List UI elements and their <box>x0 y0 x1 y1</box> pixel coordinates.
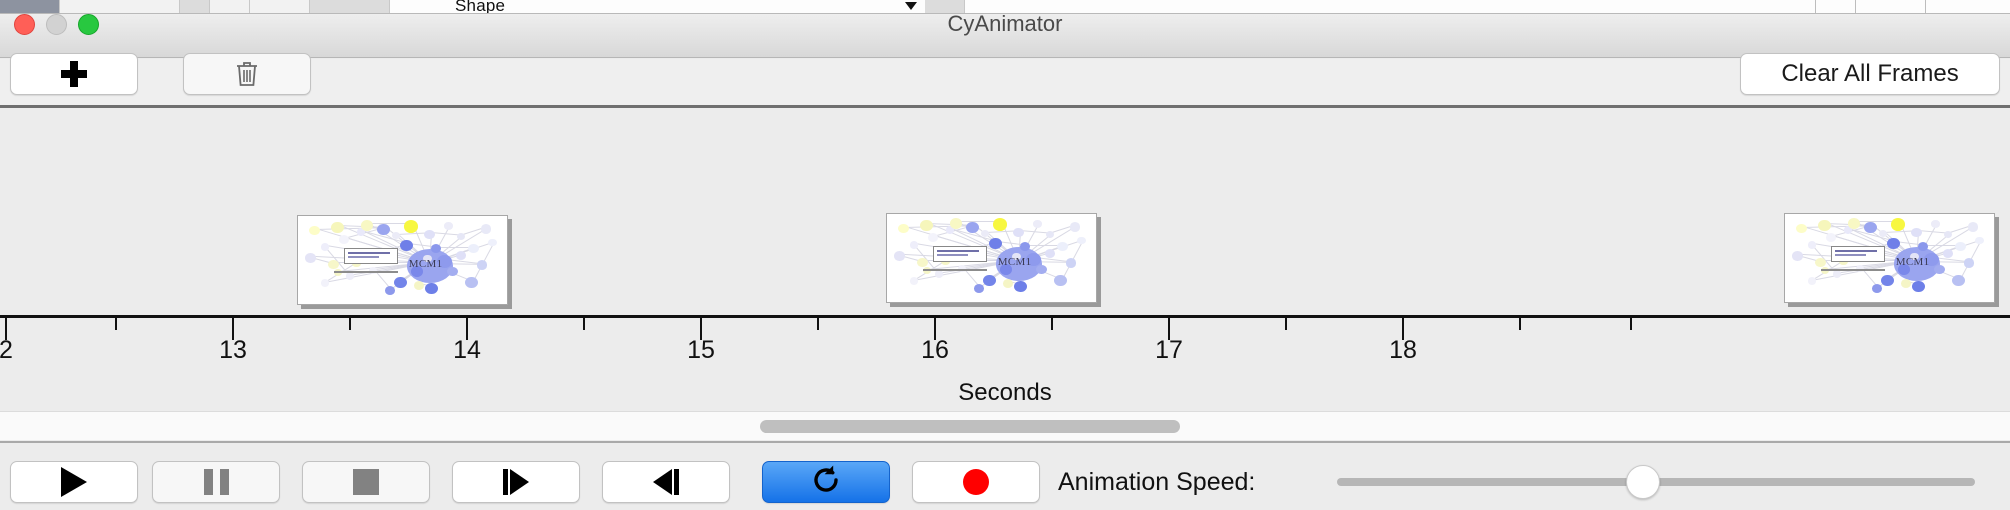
network-node <box>346 272 354 279</box>
network-node <box>974 284 984 293</box>
axis-tick-minor <box>115 318 117 330</box>
network-node <box>1014 281 1027 292</box>
axis-tick-label: 18 <box>1389 336 1417 365</box>
skip-to-start-button[interactable] <box>452 461 580 503</box>
network-node <box>1881 275 1894 286</box>
network-node <box>1808 277 1816 284</box>
network-node <box>1045 249 1055 258</box>
timeline-axis <box>0 315 2010 318</box>
network-node <box>1955 242 1965 251</box>
clear-all-frames-button[interactable]: Clear All Frames <box>1740 53 2000 95</box>
network-node <box>1808 241 1816 248</box>
network-node <box>1020 242 1030 251</box>
cyanimator-window: Shape CyAnimator Clear All Frames MCM1MC… <box>0 0 2010 510</box>
trash-icon <box>234 60 260 88</box>
network-node <box>456 251 466 260</box>
network-thumbnail: MCM1 <box>887 214 1096 302</box>
axis-tick-minor <box>1630 318 1632 330</box>
network-node <box>1887 238 1900 249</box>
network-caption <box>923 269 988 271</box>
loop-button[interactable] <box>762 461 890 503</box>
record-button[interactable] <box>912 461 1040 503</box>
bg-caret-icon <box>905 2 917 10</box>
pause-icon <box>204 469 229 495</box>
axis-tick-minor <box>817 318 819 330</box>
network-node-tooltip <box>1831 246 1885 262</box>
network-node <box>983 275 996 286</box>
skip-to-end-icon <box>653 469 679 495</box>
axis-tick-label: 15 <box>687 336 715 365</box>
network-node <box>444 222 452 229</box>
play-icon <box>61 467 87 497</box>
network-node <box>1792 251 1802 260</box>
network-hub-label: MCM1 <box>409 258 443 270</box>
axis-tick-minor <box>1051 318 1053 330</box>
network-node <box>328 260 338 269</box>
network-node <box>457 233 465 240</box>
network-node <box>331 222 344 233</box>
network-node <box>447 267 457 276</box>
network-node <box>910 277 918 284</box>
network-node <box>1901 279 1911 288</box>
axis-tick-minor <box>349 318 351 330</box>
network-node <box>425 283 438 294</box>
network-node <box>1975 237 1983 244</box>
skip-to-start-icon <box>503 469 529 495</box>
skip-to-end-button[interactable] <box>602 461 730 503</box>
network-node <box>1046 231 1054 238</box>
network-node <box>1918 242 1928 251</box>
timeline-frame[interactable]: MCM1 <box>886 213 1097 303</box>
network-node <box>1943 249 1953 258</box>
network-node <box>1070 222 1080 231</box>
network-thumbnail: MCM1 <box>298 216 507 304</box>
stop-icon <box>353 469 379 495</box>
network-node <box>989 238 1002 249</box>
network-node <box>1815 258 1825 267</box>
network-node-tooltip <box>933 246 987 262</box>
network-node <box>321 279 329 286</box>
network-node <box>920 220 933 231</box>
network-node <box>1818 220 1831 231</box>
network-node <box>305 253 315 262</box>
plus-icon <box>61 61 87 87</box>
network-node <box>400 240 413 251</box>
network-node <box>481 224 491 233</box>
clear-all-frames-label: Clear All Frames <box>1781 60 1958 88</box>
network-node <box>1036 265 1046 274</box>
axis-title: Seconds <box>0 379 2010 407</box>
axis-tick-label: 13 <box>219 336 247 365</box>
network-node <box>468 244 478 253</box>
timeline-frame[interactable]: MCM1 <box>297 215 508 305</box>
network-node <box>928 233 938 242</box>
network-caption <box>334 271 399 273</box>
axis-tick-minor <box>1519 318 1521 330</box>
network-node <box>1796 224 1806 233</box>
timeline-frame[interactable]: MCM1 <box>1784 213 1995 303</box>
network-node <box>966 222 979 233</box>
animation-speed-label: Animation Speed: <box>1058 468 1255 497</box>
network-node <box>1077 237 1085 244</box>
network-node <box>917 258 927 267</box>
animation-speed-slider-thumb[interactable] <box>1626 465 1660 499</box>
network-node <box>477 260 487 269</box>
network-node <box>1872 284 1882 293</box>
network-node <box>1003 279 1013 288</box>
network-node <box>1964 258 1974 267</box>
network-node <box>321 243 329 250</box>
record-icon <box>963 469 989 495</box>
network-node <box>1911 228 1921 237</box>
network-node <box>910 241 918 248</box>
network-node <box>394 277 407 288</box>
network-node <box>465 277 478 288</box>
network-node <box>1057 242 1067 251</box>
network-node <box>1833 270 1841 277</box>
network-node <box>935 270 943 277</box>
window-title: CyAnimator <box>0 11 2010 37</box>
axis-tick-minor <box>1285 318 1287 330</box>
pause-button[interactable] <box>152 461 280 503</box>
network-node <box>385 286 395 295</box>
stop-button[interactable] <box>302 461 430 503</box>
network-node <box>1944 231 1952 238</box>
network-node <box>1054 275 1067 286</box>
network-hub-label: MCM1 <box>998 256 1032 268</box>
network-node <box>1013 228 1023 237</box>
axis-tick-label: 17 <box>1155 336 1183 365</box>
network-node <box>1912 281 1925 292</box>
network-caption <box>1821 269 1886 271</box>
loop-icon <box>809 463 843 502</box>
delete-frame-button[interactable] <box>183 53 311 95</box>
network-node <box>993 218 1008 231</box>
network-node <box>424 230 434 239</box>
network-node <box>1033 220 1041 227</box>
axis-tick-label: 2 <box>0 336 13 365</box>
network-node <box>488 239 496 246</box>
network-node <box>1952 275 1965 286</box>
network-node <box>404 220 419 233</box>
axis-tick-label: 16 <box>921 336 949 365</box>
network-node <box>1968 222 1978 231</box>
network-node <box>1934 265 1944 274</box>
network-node <box>414 281 424 290</box>
network-node <box>431 244 441 253</box>
network-thumbnail: MCM1 <box>1785 214 1994 302</box>
network-node <box>898 224 908 233</box>
network-hub-label: MCM1 <box>1896 256 1930 268</box>
network-node <box>377 224 390 235</box>
network-node <box>1826 233 1836 242</box>
network-node <box>1864 222 1877 233</box>
network-node <box>894 251 904 260</box>
axis-tick-minor <box>583 318 585 330</box>
network-node <box>1931 220 1939 227</box>
network-node-tooltip <box>344 248 398 264</box>
network-node <box>1891 218 1906 231</box>
scrollbar-thumb[interactable] <box>760 420 1180 433</box>
axis-tick-label: 14 <box>453 336 481 365</box>
add-frame-button[interactable] <box>10 53 138 95</box>
network-node <box>309 226 319 235</box>
network-node <box>339 235 349 244</box>
play-button[interactable] <box>10 461 138 503</box>
network-node <box>1066 258 1076 267</box>
